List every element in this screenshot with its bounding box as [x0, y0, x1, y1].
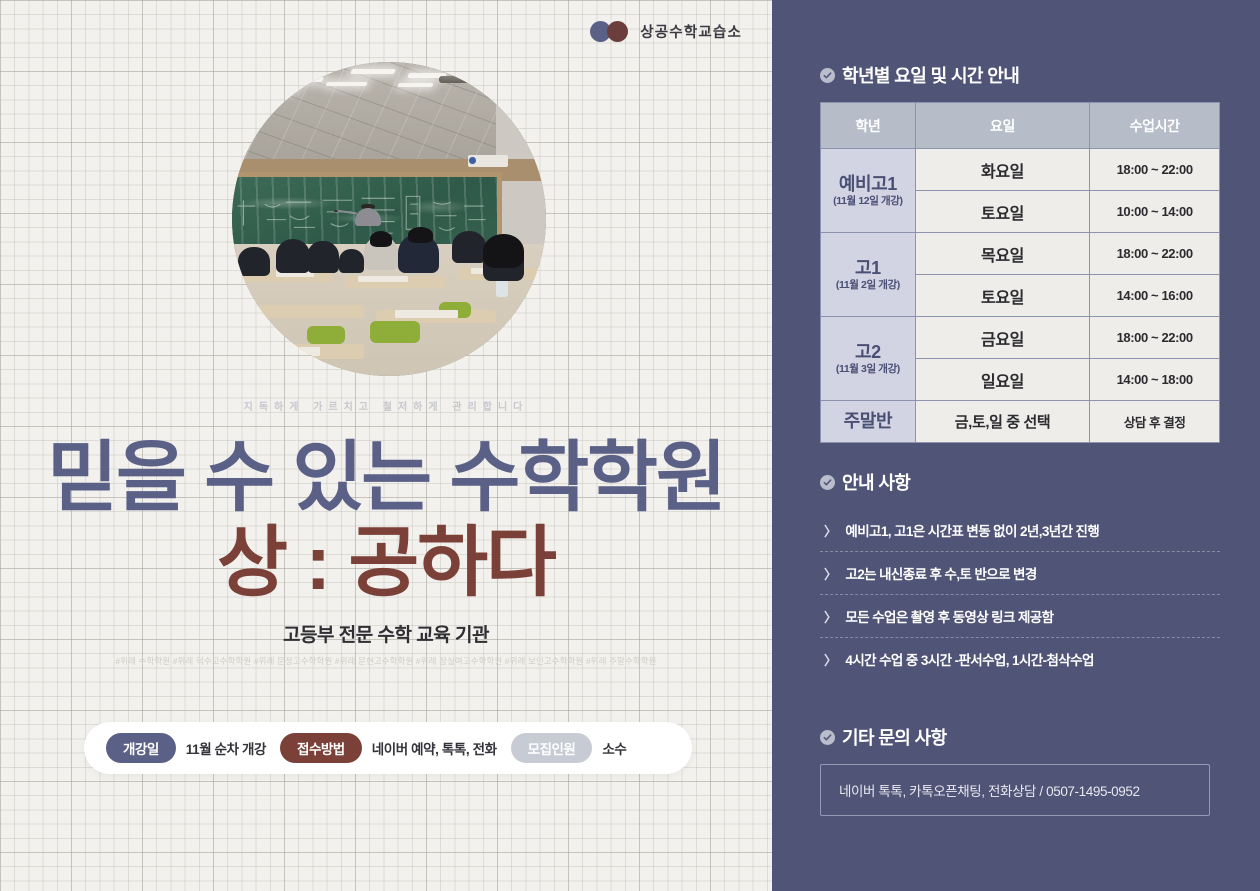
- time-cell: 10:00 ~ 14:00: [1090, 191, 1220, 233]
- poster-left-panel: 상공수학교습소: [0, 0, 772, 891]
- schedule-section-title: 학년별 요일 및 시간 안내: [820, 62, 1220, 88]
- pill-group-apply-method: 접수방법 네이버 예약, 톡톡, 전화: [280, 733, 497, 763]
- time-cell: 상담 후 결정: [1090, 401, 1220, 443]
- time-cell: 18:00 ~ 22:00: [1090, 317, 1220, 359]
- grade-note: (11월 12일 개강): [823, 195, 913, 207]
- board-sign: [468, 155, 509, 168]
- subheadline: 고등부 전문 수학 교육 기관: [0, 620, 772, 647]
- col-grade: 학년: [821, 103, 916, 149]
- grade-cell: 예비고1 (11월 12일 개강): [821, 149, 916, 233]
- check-circle-icon: [820, 68, 835, 83]
- col-day: 요일: [915, 103, 1090, 149]
- pill-group-open-date: 개강일 11월 순차 개강: [106, 733, 266, 763]
- list-item: 〉 예비고1, 고1은 시간표 변동 없이 2년,3년간 진행: [820, 509, 1220, 552]
- time-cell: 14:00 ~ 18:00: [1090, 359, 1220, 401]
- chevron-right-icon: 〉: [824, 521, 836, 540]
- grade-name: 고1: [855, 258, 881, 278]
- table-row: 고2 (11월 3일 개강) 금요일 18:00 ~ 22:00: [821, 317, 1220, 359]
- time-cell: 18:00 ~ 22:00: [1090, 233, 1220, 275]
- grade-name: 예비고1: [839, 174, 897, 194]
- day-cell: 금,토,일 중 선택: [915, 401, 1090, 443]
- day-cell: 토요일: [915, 191, 1090, 233]
- contact-info-box[interactable]: 네이버 톡톡, 카톡오픈채팅, 전화상담 / 0507-1495-0952: [820, 764, 1210, 816]
- notices-section-title: 안내 사항: [820, 469, 1220, 495]
- contact-section-title: 기타 문의 사항: [820, 724, 1220, 750]
- notice-text: 모든 수업은 촬영 후 동영상 링크 제공함: [845, 606, 1053, 626]
- logo-dots-icon: [590, 21, 630, 42]
- pill-value-capacity: 소수: [602, 738, 626, 758]
- time-cell: 18:00 ~ 22:00: [1090, 149, 1220, 191]
- chevron-right-icon: 〉: [824, 564, 836, 583]
- day-cell: 화요일: [915, 149, 1090, 191]
- poster-root: 상공수학교습소: [0, 0, 1260, 891]
- brand-logo: 상공수학교습소: [590, 21, 742, 42]
- brand-name: 상공수학교습소: [640, 21, 742, 42]
- info-pill-bar: 개강일 11월 순차 개강 접수방법 네이버 예약, 톡톡, 전화 모집인원 소…: [84, 722, 692, 774]
- notices-list: 〉 예비고1, 고1은 시간표 변동 없이 2년,3년간 진행 〉 고2는 내신…: [820, 509, 1220, 680]
- table-row: 예비고1 (11월 12일 개강) 화요일 18:00 ~ 22:00: [821, 149, 1220, 191]
- chevron-right-icon: 〉: [824, 607, 836, 626]
- table-row: 주말반 금,토,일 중 선택 상담 후 결정: [821, 401, 1220, 443]
- tagline: 지독하게 가르치고 철저하게 관리합니다: [0, 398, 772, 413]
- schedule-title-text: 학년별 요일 및 시간 안내: [842, 62, 1019, 88]
- pill-label-capacity: 모집인원: [511, 733, 593, 763]
- check-circle-icon: [820, 730, 835, 745]
- list-item: 〉 모든 수업은 촬영 후 동영상 링크 제공함: [820, 595, 1220, 638]
- time-cell: 14:00 ~ 16:00: [1090, 275, 1220, 317]
- grade-cell: 주말반: [821, 401, 916, 443]
- day-cell: 일요일: [915, 359, 1090, 401]
- grade-note: (11월 2일 개강): [823, 279, 913, 291]
- contact-line: 네이버 톡톡, 카톡오픈채팅, 전화상담 / 0507-1495-0952: [839, 784, 1140, 799]
- grade-note: (11월 3일 개강): [823, 363, 913, 375]
- notices-title-text: 안내 사항: [842, 469, 910, 495]
- list-item: 〉 4시간 수업 중 3시간 -판서수업, 1시간-첨삭수업: [820, 638, 1220, 680]
- pill-value-open-date: 11월 순차 개강: [186, 738, 266, 758]
- pill-value-apply-method: 네이버 예약, 톡톡, 전화: [372, 738, 497, 758]
- col-time: 수업시간: [1090, 103, 1220, 149]
- headline-line-1: 믿을 수 있는 수학학원: [0, 440, 772, 517]
- check-circle-icon: [820, 475, 835, 490]
- pill-group-capacity: 모집인원 소수: [511, 733, 627, 763]
- hashtag-line: #위례 수학학원 #위례 덕수고수학학원 #위례 문정고수학학원 #위례 문현고…: [0, 655, 772, 667]
- notice-text: 예비고1, 고1은 시간표 변동 없이 2년,3년간 진행: [845, 520, 1099, 540]
- chevron-right-icon: 〉: [824, 650, 836, 669]
- poster-right-panel: 학년별 요일 및 시간 안내 학년 요일 수업시간 예비고1 (11월 12일 …: [772, 0, 1260, 891]
- table-header-row: 학년 요일 수업시간: [821, 103, 1220, 149]
- table-row: 고1 (11월 2일 개강) 목요일 18:00 ~ 22:00: [821, 233, 1220, 275]
- headline-line-2: 상 : 공하다: [0, 525, 772, 602]
- contact-title-text: 기타 문의 사항: [842, 724, 947, 750]
- pill-label-apply-method: 접수방법: [280, 733, 362, 763]
- day-cell: 토요일: [915, 275, 1090, 317]
- classroom-photo: 상 : 공하다: [232, 62, 546, 376]
- grade-cell: 고1 (11월 2일 개강): [821, 233, 916, 317]
- notice-text: 4시간 수업 중 3시간 -판서수업, 1시간-첨삭수업: [845, 649, 1093, 669]
- notice-text: 고2는 내신종료 후 수,토 반으로 변경: [845, 563, 1036, 583]
- grade-name: 주말반: [844, 411, 892, 431]
- day-cell: 목요일: [915, 233, 1090, 275]
- list-item: 〉 고2는 내신종료 후 수,토 반으로 변경: [820, 552, 1220, 595]
- grade-cell: 고2 (11월 3일 개강): [821, 317, 916, 401]
- pill-label-open-date: 개강일: [106, 733, 176, 763]
- day-cell: 금요일: [915, 317, 1090, 359]
- grade-name: 고2: [855, 342, 881, 362]
- schedule-table: 학년 요일 수업시간 예비고1 (11월 12일 개강) 화요일 18:00 ~…: [820, 102, 1220, 443]
